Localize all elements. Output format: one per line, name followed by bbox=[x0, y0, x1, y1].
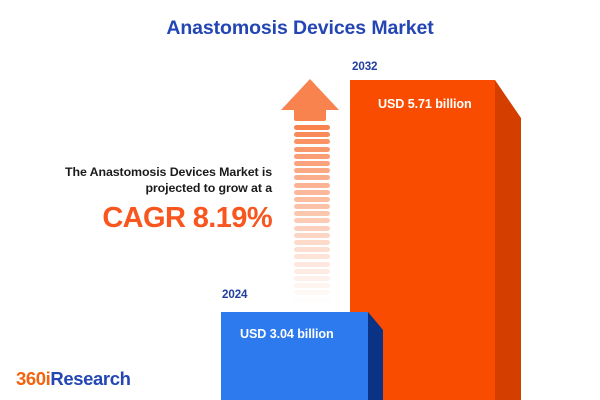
logo-text-research: Research bbox=[50, 368, 130, 389]
arrow-stripe bbox=[294, 290, 330, 295]
arrow-stripe bbox=[294, 276, 330, 281]
arrow-stripe bbox=[294, 269, 330, 274]
arrow-stripe bbox=[294, 305, 330, 310]
arrow-stripe bbox=[294, 204, 330, 209]
year-label-2024: 2024 bbox=[222, 288, 247, 301]
arrow-stripe bbox=[294, 197, 330, 202]
arrow-stripe bbox=[294, 190, 330, 195]
arrow-neck bbox=[294, 110, 326, 121]
arrow-stripe bbox=[294, 262, 330, 267]
page-title: Anastomosis Devices Market bbox=[0, 17, 600, 40]
arrow-stripe bbox=[294, 132, 330, 137]
arrow-stripe bbox=[294, 298, 330, 303]
arrow-stripe bbox=[294, 226, 330, 231]
arrow-stripe bbox=[294, 240, 330, 245]
arrow-stripe bbox=[294, 168, 330, 173]
arrow-stripe bbox=[294, 218, 330, 223]
arrow-stripe bbox=[294, 147, 330, 152]
arrow-stripe bbox=[294, 125, 330, 130]
bar-value-label-2024: USD 3.04 billion bbox=[240, 327, 334, 341]
annotation-line-2: projected to grow at a bbox=[10, 180, 272, 196]
annotation-line-1: The Anastomosis Devices Market is bbox=[10, 164, 272, 180]
arrow-shaft-stripes bbox=[294, 125, 330, 312]
logo-text-360i: 360i bbox=[16, 368, 50, 389]
arrow-stripe bbox=[294, 233, 330, 238]
year-label-2032: 2032 bbox=[352, 60, 377, 73]
arrow-stripe bbox=[294, 161, 330, 166]
arrow-stripe bbox=[294, 247, 330, 252]
infographic-canvas: Anastomosis Devices Market The Anastomos… bbox=[0, 0, 600, 400]
arrow-stripe bbox=[294, 154, 330, 159]
brand-logo: 360iResearch bbox=[16, 368, 131, 390]
bar-value-label-2032: USD 5.71 billion bbox=[378, 97, 472, 111]
cagr-annotation: The Anastomosis Devices Market is projec… bbox=[10, 164, 272, 234]
arrow-stripe bbox=[294, 283, 330, 288]
bar-2024-front-face bbox=[221, 312, 368, 400]
growth-arrow-up-icon bbox=[281, 79, 339, 299]
bar-2024 bbox=[221, 312, 368, 400]
cagr-value: CAGR 8.19% bbox=[10, 202, 272, 234]
arrow-stripe bbox=[294, 254, 330, 259]
arrow-stripe bbox=[294, 139, 330, 144]
bar-2032-side-face bbox=[495, 80, 521, 400]
arrow-stripe bbox=[294, 211, 330, 216]
arrow-stripe bbox=[294, 183, 330, 188]
arrow-head-icon bbox=[281, 79, 339, 110]
arrow-stripe bbox=[294, 175, 330, 180]
